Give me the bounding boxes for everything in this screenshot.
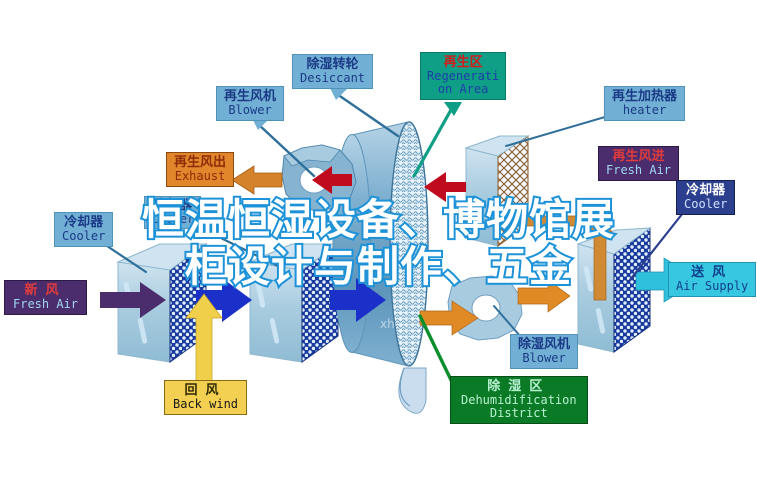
promo-overlay-line-2: 柜设计与制作、五金 (0, 243, 757, 290)
label-back-wind-en: Back wind (173, 398, 238, 411)
label-dehum-blower[interactable]: 除湿风机 Blower (510, 334, 578, 369)
label-regen-heater-cn: 再生加热器 (612, 90, 677, 104)
label-regen-exhaust-en: Exhaust (174, 170, 226, 183)
label-fresh-air-en: Fresh Air (13, 298, 78, 311)
label-desiccant-wheel-cn: 除湿转轮 (300, 58, 365, 72)
label-dehumidification-district[interactable]: 除湿区 Dehumidification District (450, 376, 588, 424)
label-back-wind-cn: 回风 (173, 384, 238, 398)
condensate-scoop (399, 368, 426, 413)
label-dehum-blower-cn: 除湿风机 (518, 338, 570, 352)
label-regen-fresh-air-en: Fresh Air (606, 164, 671, 177)
label-dehum-blower-en: Blower (518, 352, 570, 365)
label-desiccant-wheel[interactable]: 除湿转轮 Desiccant (292, 54, 373, 89)
label-regen-exhaust[interactable]: 再生风出 Exhaust (166, 152, 234, 187)
label-regen-blower-cn: 再生风机 (224, 90, 276, 104)
label-regeneration-area-en2: on Area (427, 83, 499, 96)
label-regen-blower[interactable]: 再生风机 Blower (216, 86, 284, 121)
label-regeneration-area[interactable]: 再生区 Regenerati on Area (420, 52, 506, 100)
promo-overlay-line-1: 恒温恒湿设备、博物馆展 (0, 196, 757, 243)
dehumidifier-process-diagram: xh (0, 0, 757, 488)
promo-overlay-text: 恒温恒湿设备、博物馆展 柜设计与制作、五金 (0, 196, 757, 290)
label-regen-fresh-air-cn: 再生风进 (606, 150, 671, 164)
label-regen-heater[interactable]: 再生加热器 heater (604, 86, 685, 121)
label-regen-blower-en: Blower (224, 104, 276, 117)
label-regen-fresh-air-in[interactable]: 再生风进 Fresh Air (598, 146, 679, 181)
label-desiccant-wheel-en: Desiccant (300, 72, 365, 85)
label-back-wind[interactable]: 回风 Back wind (164, 380, 247, 415)
label-regeneration-area-cn: 再生区 (427, 56, 499, 70)
label-regen-exhaust-cn: 再生风出 (174, 156, 226, 170)
label-dehum-district-en2: District (461, 407, 577, 420)
label-regen-heater-en: heater (612, 104, 677, 117)
svg-text:xh: xh (380, 317, 395, 331)
label-dehum-district-cn: 除湿区 (461, 380, 577, 394)
arrow-regen-exhaust (232, 166, 282, 194)
